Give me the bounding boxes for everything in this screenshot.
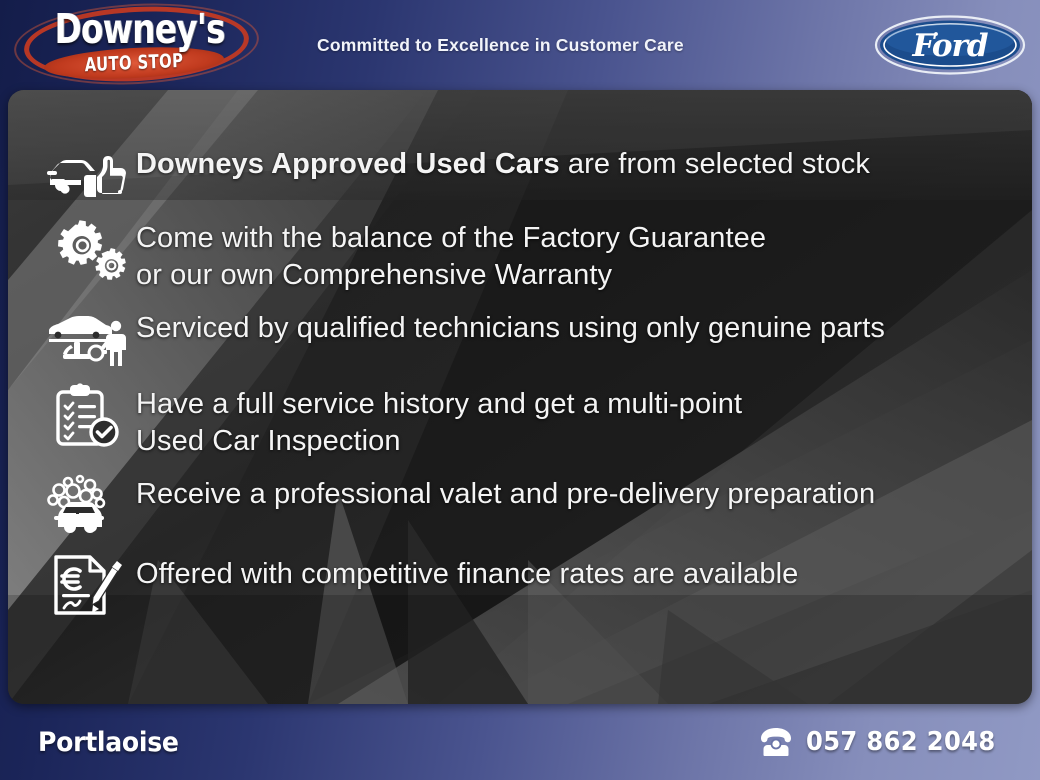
footer-bar: Portlaoise 057 862 2048 (0, 704, 1040, 780)
ford-logo[interactable]: Ford (856, 14, 1026, 76)
features-panel: Downeys Approved Used Cars are from sele… (8, 90, 1032, 704)
list-item: Serviced by qualified technicians using … (44, 308, 1012, 370)
telephone-icon (759, 727, 793, 757)
bullet-text-2: Come with the balance of the Factory Gua… (136, 218, 1012, 294)
bullet-text-1: Downeys Approved Used Cars are from sele… (136, 144, 1012, 183)
downeys-logo[interactable]: Downey's AUTO STOP (6, 2, 261, 88)
list-item: Receive a professional valet and pre-del… (44, 474, 1012, 536)
poster-canvas: Downey's AUTO STOP Committed to Excellen… (0, 0, 1040, 780)
bullet-text-1-bold: Downeys Approved Used Cars (136, 148, 560, 180)
car-wash-icon (44, 474, 136, 536)
car-thumbs-up-icon (44, 144, 136, 204)
list-item: Have a full service history and get a mu… (44, 384, 1012, 460)
header-bar: Downey's AUTO STOP Committed to Excellen… (0, 0, 1040, 90)
bullet-text-5: Receive a professional valet and pre-del… (136, 474, 1012, 513)
bullet-list: Downeys Approved Used Cars are from sele… (8, 90, 1032, 704)
bullet-text-3: Serviced by qualified technicians using … (136, 308, 1012, 347)
phone-number: 057 862 2048 (806, 727, 996, 757)
phone-group[interactable]: 057 862 2048 (759, 727, 1010, 757)
tagline-text: Committed to Excellence in Customer Care (261, 35, 856, 56)
location-label: Portlaoise (38, 727, 179, 758)
euro-document-pen-icon (44, 554, 136, 616)
list-item: Offered with competitive finance rates a… (44, 554, 1012, 616)
bullet-text-6: Offered with competitive finance rates a… (136, 554, 1012, 593)
list-item: Come with the balance of the Factory Gua… (44, 218, 1012, 294)
car-lift-mechanic-icon (44, 308, 136, 370)
gears-icon (44, 218, 136, 280)
list-item: Downeys Approved Used Cars are from sele… (44, 144, 1012, 204)
bullet-text-1-rest: are from selected stock (560, 148, 870, 180)
svg-text:Ford: Ford (912, 28, 988, 64)
ford-oval-icon: Ford (874, 14, 1026, 76)
bullet-text-4: Have a full service history and get a mu… (136, 384, 1012, 460)
clipboard-checklist-icon (44, 384, 136, 446)
logo-name-text: Downey's (55, 6, 219, 52)
